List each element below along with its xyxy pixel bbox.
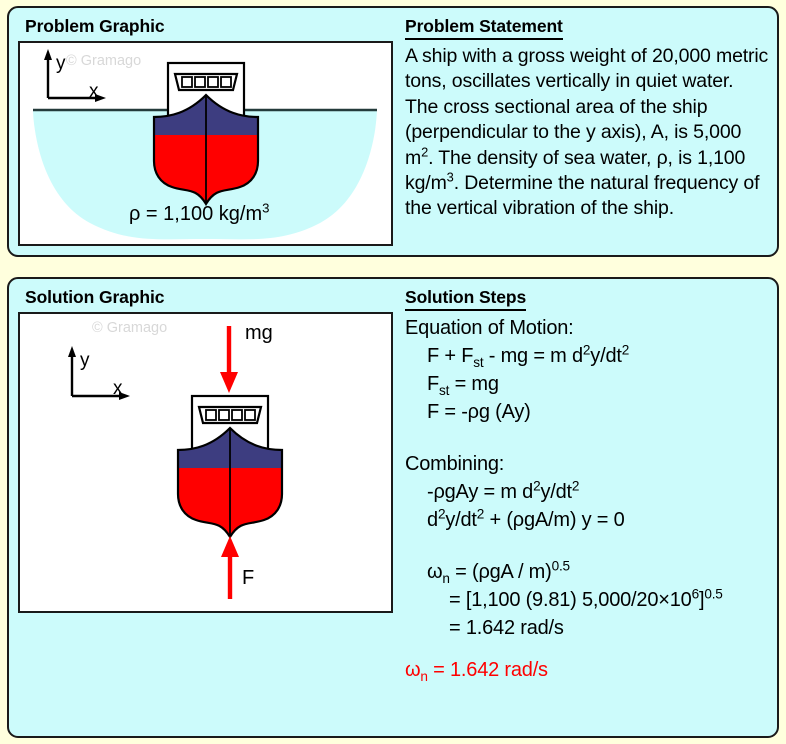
watermark: © Gramago	[66, 53, 141, 69]
bridge-window	[219, 410, 229, 420]
solution-step-equation: -ρgAy = m d2y/dt2	[405, 478, 775, 506]
force-arrow-F	[221, 536, 239, 599]
bridge-window	[206, 410, 216, 420]
axis-label-x: x	[89, 81, 99, 103]
problem-statement-body: A ship with a gross weight of 20,000 met…	[405, 45, 768, 219]
problem-graphic-box: © Gramago y x ρ = 1,100 kg/m3	[18, 41, 393, 246]
solution-step-equation: F + Fst - mg = m d2y/dt2	[405, 342, 775, 370]
bridge-window	[245, 410, 255, 420]
solution-step-spacer	[405, 642, 775, 656]
solution-step-spacer	[405, 534, 775, 558]
force-label-F: F	[242, 567, 254, 590]
axis-label-x: x	[113, 378, 123, 400]
solution-graphic-box: © Gramago y x mg F	[18, 312, 393, 613]
solution-final-answer: ωn = 1.642 rad/s	[405, 656, 775, 684]
solution-step-equation: = [1,100 (9.81) 5,000/20×106]0.5	[405, 586, 775, 614]
solution-step-equation: Fst = mg	[405, 370, 775, 398]
solution-step-equation: d2y/dt2 + (ρgA/m) y = 0	[405, 506, 775, 534]
bridge-window	[182, 77, 192, 87]
solution-step-heading: Combining:	[405, 450, 775, 478]
density-label-text: ρ = 1,100 kg/m3	[129, 203, 269, 225]
problem-statement-text: A ship with a gross weight of 20,000 met…	[405, 44, 771, 222]
problem-card: Problem Graphic	[7, 6, 779, 257]
solution-step-equation: F = -ρg (Ay)	[405, 398, 775, 426]
watermark: © Gramago	[92, 320, 167, 336]
axis-label-y: y	[80, 350, 90, 372]
solution-step-equation: = 1.642 rad/s	[405, 614, 775, 642]
force-label-mg: mg	[245, 322, 273, 345]
solution-steps-list: Equation of Motion:F + Fst - mg = m d2y/…	[405, 314, 775, 684]
problem-graphic-title: Problem Graphic	[25, 16, 165, 37]
bridge-window	[208, 77, 218, 87]
bridge-window	[232, 410, 242, 420]
problem-statement-title: Problem Statement	[405, 16, 563, 40]
solution-free-body-diagram	[20, 314, 391, 611]
solution-card: Solution Graphic	[7, 277, 779, 738]
solution-step-equation: ωn = (ρgA / m)0.5	[405, 558, 775, 586]
solution-graphic-title: Solution Graphic	[25, 287, 164, 308]
solution-step-spacer	[405, 426, 775, 450]
solution-steps-title: Solution Steps	[405, 287, 526, 311]
solution-step-heading: Equation of Motion:	[405, 314, 775, 342]
density-label: ρ = 1,100 kg/m3	[129, 203, 269, 226]
axis-label-y: y	[56, 53, 66, 75]
bridge-window	[195, 77, 205, 87]
worksheet-page: Problem Graphic	[0, 0, 786, 744]
bridge-window	[221, 77, 231, 87]
force-arrow-mg	[220, 326, 238, 393]
